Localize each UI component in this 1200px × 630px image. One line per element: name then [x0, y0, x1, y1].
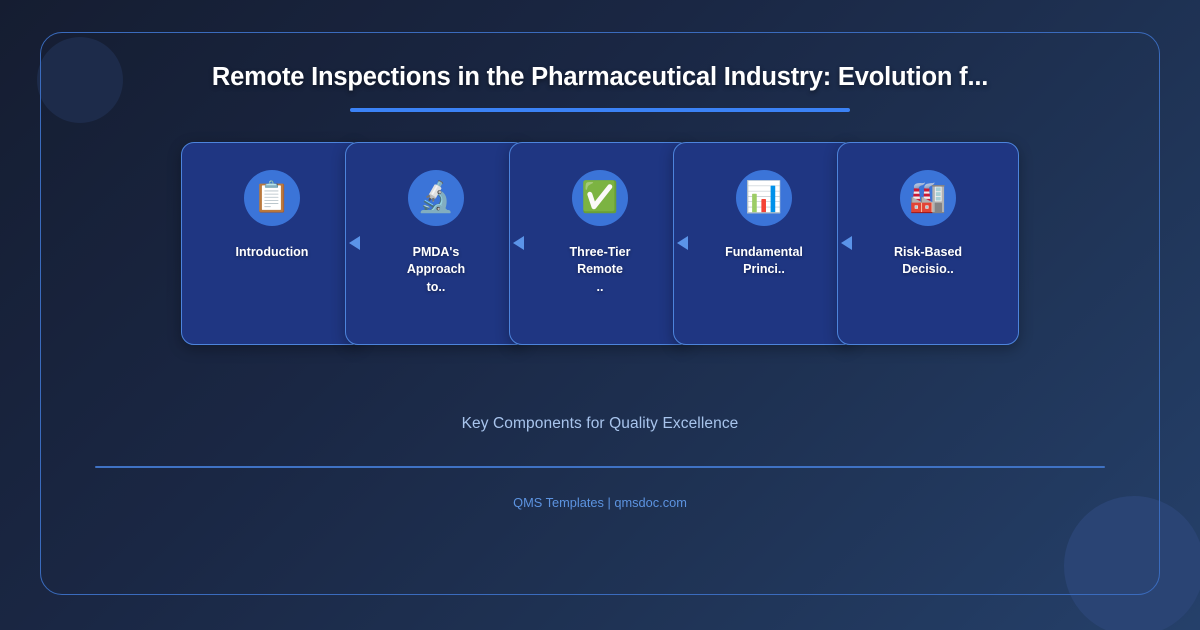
- subtitle: Key Components for Quality Excellence: [462, 415, 739, 433]
- triangle-left-icon: [513, 236, 524, 250]
- card-label: PMDA's Approach to..: [376, 244, 496, 297]
- triangle-left-icon: [677, 236, 688, 250]
- card-label: Risk-Based Decisio..: [868, 244, 988, 280]
- card-fundamental-principles[interactable]: 📊 Fundamental Princi..: [673, 142, 855, 345]
- factory-icon: 🏭: [900, 170, 956, 226]
- clipboard-icon: 📋: [244, 170, 300, 226]
- card-pmda-approach[interactable]: 🔬 PMDA's Approach to..: [345, 142, 527, 345]
- card-label: Fundamental Princi..: [704, 244, 824, 280]
- card-risk-based-decision[interactable]: 🏭 Risk-Based Decisio..: [837, 142, 1019, 345]
- card-three-tier-remote[interactable]: ✅ Three-Tier Remote ..: [509, 142, 691, 345]
- microscope-icon: 🔬: [408, 170, 464, 226]
- footer-attribution: QMS Templates | qmsdoc.com: [513, 495, 687, 510]
- connector-arrow-1: [345, 142, 363, 345]
- bar-chart-icon: 📊: [736, 170, 792, 226]
- check-mark-icon: ✅: [572, 170, 628, 226]
- slide-content: Remote Inspections in the Pharmaceutical…: [40, 32, 1160, 595]
- connector-arrow-4: [837, 142, 855, 345]
- title-underline-rule: [350, 108, 850, 112]
- footer-divider-rule: [95, 466, 1105, 469]
- connector-arrow-3: [673, 142, 691, 345]
- page-title: Remote Inspections in the Pharmaceutical…: [212, 62, 988, 93]
- card-row: 📋 Introduction 🔬 PMDA's Approach to.. ✅ …: [181, 142, 1019, 345]
- card-label: Three-Tier Remote ..: [540, 244, 660, 297]
- triangle-left-icon: [841, 236, 852, 250]
- connector-arrow-2: [509, 142, 527, 345]
- slide-canvas: Remote Inspections in the Pharmaceutical…: [0, 0, 1200, 630]
- card-label: Introduction: [212, 244, 332, 262]
- card-introduction[interactable]: 📋 Introduction: [181, 142, 363, 345]
- triangle-left-icon: [349, 236, 360, 250]
